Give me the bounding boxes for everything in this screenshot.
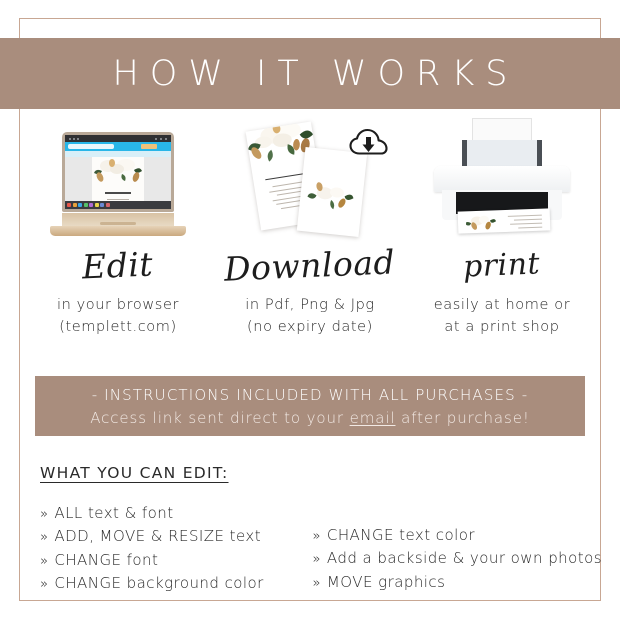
step-script-label-download: Download bbox=[223, 232, 396, 297]
banner-email-link[interactable]: email bbox=[350, 409, 396, 427]
bullet-icon: » bbox=[40, 575, 48, 595]
bullet-icon: » bbox=[40, 505, 48, 525]
list-item: »ADD, MOVE & RESIZE text bbox=[40, 525, 303, 548]
banner-subline: Access link sent direct to your email af… bbox=[90, 409, 530, 427]
list-item: »CHANGE background color bbox=[40, 572, 303, 595]
edit-list-right: »CHANGE text color »Add a backside & you… bbox=[303, 502, 586, 595]
list-item: »ALL text & font bbox=[40, 502, 303, 525]
step-caption-download: in Pdf, Png & Jpg (no expiry date) bbox=[245, 294, 374, 339]
list-item-label: CHANGE text color bbox=[327, 524, 475, 547]
step-caption-line2: at a print shop bbox=[434, 316, 571, 338]
step-caption-line1: easily at home or bbox=[434, 294, 571, 316]
what-you-can-edit-section: WHAT YOU CAN EDIT: »ALL text & font »ADD… bbox=[40, 464, 585, 595]
banner-subline-after: after purchase! bbox=[395, 409, 529, 427]
steps-row: Edit in your browser (templett.com) bbox=[22, 118, 598, 348]
list-item: »MOVE graphics bbox=[313, 571, 586, 594]
instructions-banner: - INSTRUCTIONS INCLUDED WITH ALL PURCHAS… bbox=[35, 376, 585, 436]
bullet-icon: » bbox=[313, 527, 321, 547]
step-caption-line1: in your browser bbox=[57, 294, 179, 316]
banner-subline-before: Access link sent direct to your bbox=[90, 409, 349, 427]
bullet-icon: » bbox=[313, 550, 321, 570]
list-item-label: CHANGE background color bbox=[54, 572, 263, 595]
laptop-lid-icon bbox=[62, 132, 174, 212]
step-script-label-print: print bbox=[462, 234, 541, 295]
list-item: »CHANGE font bbox=[40, 549, 303, 572]
list-item: »Add a backside & your own photos bbox=[313, 547, 586, 570]
page-title: HOW IT WORKS bbox=[101, 54, 518, 94]
step-caption-line2: (templett.com) bbox=[57, 316, 179, 338]
laptop-keyboard-icon bbox=[62, 213, 174, 226]
step-caption-print: easily at home or at a print shop bbox=[434, 294, 571, 339]
bullet-icon: » bbox=[40, 552, 48, 572]
edit-section-heading: WHAT YOU CAN EDIT: bbox=[40, 464, 229, 482]
bullet-icon: » bbox=[313, 574, 321, 594]
printer-illustration bbox=[406, 118, 598, 236]
header-band: HOW IT WORKS bbox=[0, 38, 620, 109]
cards-illustration bbox=[214, 118, 406, 236]
banner-headline: - INSTRUCTIONS INCLUDED WITH ALL PURCHAS… bbox=[92, 386, 529, 404]
bullet-icon: » bbox=[40, 528, 48, 548]
step-script-label-edit: Edit bbox=[81, 234, 154, 295]
laptop-base-icon bbox=[50, 226, 186, 236]
list-item-label: MOVE graphics bbox=[327, 571, 445, 594]
step-caption-line2: (no expiry date) bbox=[245, 316, 374, 338]
edit-list-left: »ALL text & font »ADD, MOVE & RESIZE tex… bbox=[40, 502, 303, 595]
list-item-label: ALL text & font bbox=[54, 502, 173, 525]
printer-lid-icon bbox=[434, 166, 570, 192]
step-print: print easily at home or at a print shop bbox=[406, 118, 598, 348]
step-edit: Edit in your browser (templett.com) bbox=[22, 118, 214, 348]
list-item-label: Add a backside & your own photos bbox=[327, 547, 602, 570]
list-item-label: CHANGE font bbox=[54, 549, 158, 572]
step-download: Download in Pdf, Png & Jpg (no expiry da… bbox=[214, 118, 406, 348]
printed-invitation-icon bbox=[458, 208, 551, 233]
step-caption-line1: in Pdf, Png & Jpg bbox=[245, 294, 374, 316]
list-item-label: ADD, MOVE & RESIZE text bbox=[54, 525, 261, 548]
cloud-download-icon bbox=[349, 128, 389, 160]
step-caption-edit: in your browser (templett.com) bbox=[57, 294, 179, 339]
list-item: »CHANGE text color bbox=[313, 524, 586, 547]
laptop-illustration bbox=[22, 118, 214, 236]
edit-columns: »ALL text & font »ADD, MOVE & RESIZE tex… bbox=[40, 502, 585, 595]
invitation-card-front-icon bbox=[297, 147, 367, 237]
